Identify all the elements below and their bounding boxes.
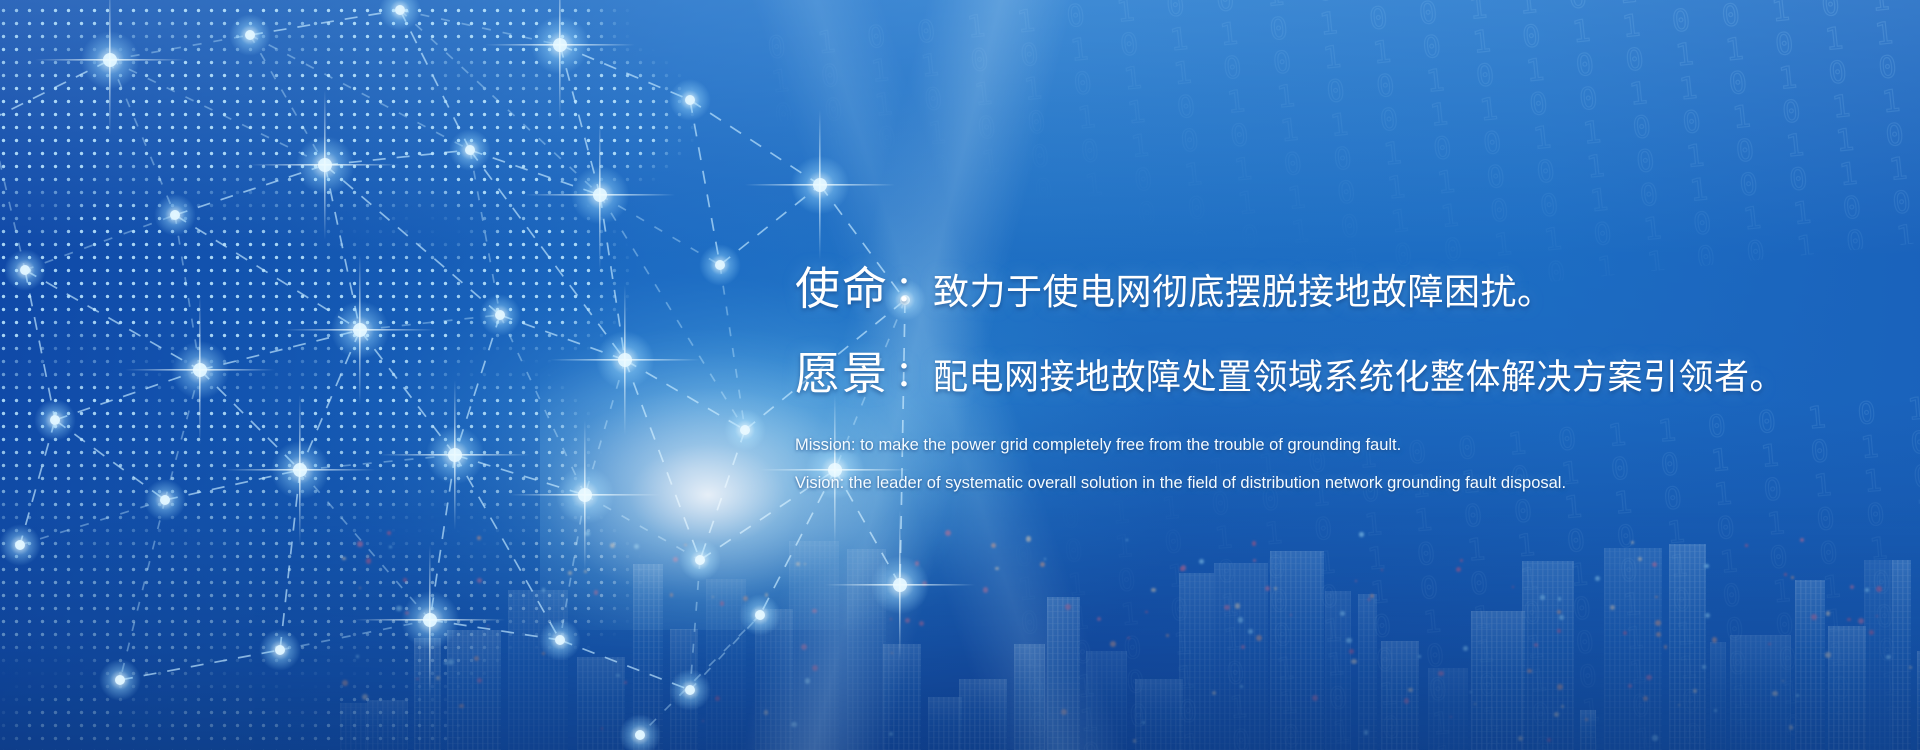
city-building [414, 638, 441, 750]
network-edge [110, 60, 325, 165]
city-light [715, 696, 720, 701]
city-light [1772, 691, 1777, 696]
banner-text-block: 使命：致力于使电网彻底摆脱接地故障困扰。 愿景：配电网接地故障处置领域系统化整体… [795, 252, 1875, 493]
city-light [1235, 603, 1241, 609]
city-light [1646, 675, 1651, 680]
network-edge [500, 315, 585, 495]
city-light [1061, 709, 1067, 715]
city-light [1408, 688, 1413, 693]
city-light [362, 694, 368, 700]
city-light [1110, 641, 1116, 647]
city-light [1065, 604, 1071, 610]
network-edge [455, 455, 560, 640]
network-node [578, 488, 592, 502]
hero-banner: 0 1 0 0 1 1 0 1 0 0 1 0 1 1 0 0 1 0 1 0 … [0, 0, 1920, 750]
binary-row: 0 1 0 0 1 1 0 1 0 0 1 0 1 1 0 0 1 0 1 0 … [1028, 626, 1920, 744]
network-edge [300, 470, 430, 620]
city-light [405, 611, 409, 615]
headline-mission-text: 致力于使电网彻底摆脱接地故障困扰。 [933, 271, 1554, 312]
city-light [919, 621, 924, 626]
network-node [160, 495, 170, 505]
city-light [1026, 536, 1032, 542]
city-light [1664, 645, 1668, 649]
globe-dot-matrix [0, 0, 830, 750]
city-light [1351, 659, 1357, 665]
city-light [1346, 638, 1351, 643]
city-light [542, 652, 544, 654]
network-node [740, 425, 750, 435]
city-light [995, 567, 998, 570]
network-edge [175, 215, 360, 330]
city-light [1557, 610, 1561, 614]
network-edge [600, 195, 720, 265]
network-edge [120, 650, 280, 680]
network-node [813, 178, 827, 192]
city-light [1702, 665, 1706, 669]
city-building [447, 630, 501, 750]
network-edge [585, 495, 700, 560]
city-building [1428, 668, 1468, 750]
city-light [416, 678, 419, 681]
network-edge [360, 315, 500, 330]
city-light [1368, 598, 1371, 601]
city-light [1826, 611, 1830, 615]
city-light [1656, 632, 1661, 637]
network-edge [430, 455, 455, 620]
city-building [1471, 611, 1525, 750]
city-light [1784, 573, 1787, 576]
network-edge [20, 500, 165, 545]
dotted-world-globe [0, 0, 830, 750]
city-building [706, 579, 746, 750]
city-building [340, 703, 367, 750]
network-edge [250, 35, 325, 165]
city-building [1325, 591, 1351, 750]
city-light [1558, 597, 1561, 600]
city-building [1358, 594, 1377, 750]
city-light [487, 625, 489, 627]
city-light [1450, 716, 1452, 718]
headline-mission-colon: ： [889, 268, 933, 309]
city-light [1252, 541, 1257, 546]
network-edge [0, 120, 25, 270]
network-edge [720, 265, 745, 430]
network-node [353, 323, 367, 337]
headline-vision: 愿景：配电网接地故障处置领域系统化整体解决方案引领者。 [795, 337, 1875, 402]
network-edge [470, 150, 625, 360]
network-edge [25, 215, 175, 270]
city-light [403, 578, 407, 582]
network-edge [325, 165, 360, 330]
network-edge [470, 150, 500, 315]
city-light [1714, 709, 1717, 712]
city-light [477, 678, 482, 683]
city-light [1858, 618, 1864, 624]
city-light [1418, 655, 1421, 658]
city-light [945, 530, 951, 536]
city-light [1547, 738, 1551, 742]
binary-row: 1 0 0 1 1 0 1 0 1 1 0 0 1 0 0 1 1 0 0 1 … [784, 78, 1920, 235]
network-edge [400, 10, 600, 195]
city-light [1876, 615, 1878, 617]
city-light [1557, 684, 1562, 689]
network-edge [110, 60, 175, 215]
headline-mission: 使命：致力于使电网彻底摆脱接地故障困扰。 [795, 252, 1875, 317]
city-building [1669, 544, 1706, 750]
city-building [1828, 626, 1866, 750]
city-light [1359, 532, 1363, 536]
headline-vision-colon: ： [889, 353, 933, 394]
city-light [1865, 588, 1869, 592]
network-edge [600, 195, 625, 360]
network-edge [280, 620, 430, 650]
city-light [1463, 646, 1468, 651]
city-light [1256, 635, 1262, 641]
city-light [1585, 718, 1588, 721]
network-edge [325, 150, 470, 165]
city-light [366, 558, 371, 563]
city-light [1470, 691, 1472, 693]
city-light [1265, 586, 1271, 592]
network-node [685, 95, 695, 105]
city-light [1850, 585, 1854, 589]
network-edge [165, 370, 200, 500]
binary-row: 0 0 1 0 1 1 0 1 1 0 0 1 1 0 1 0 1 1 0 0 … [773, 0, 1920, 134]
city-light [387, 531, 391, 535]
city-light [1534, 643, 1538, 647]
network-edge [0, 60, 110, 120]
city-light [1142, 721, 1145, 724]
city-light [1847, 618, 1850, 621]
network-edge [250, 10, 400, 35]
city-light [616, 674, 620, 678]
city-light [1438, 671, 1444, 677]
city-building [1864, 560, 1892, 750]
network-node [618, 353, 632, 367]
city-light [1705, 613, 1710, 618]
city-light [601, 727, 603, 729]
network-node [423, 613, 437, 627]
network-edge [560, 495, 585, 640]
network-edge [585, 360, 625, 495]
city-light [624, 681, 627, 684]
city-light [1789, 725, 1793, 729]
city-light [1460, 559, 1463, 562]
city-light [542, 588, 546, 592]
network-edge [625, 360, 700, 560]
city-light [1240, 685, 1243, 688]
network-edge [250, 35, 470, 150]
network-edge [25, 270, 200, 370]
headline-vision-text: 配电网接地故障处置领域系统化整体解决方案引领者。 [933, 358, 1785, 397]
city-building [1795, 580, 1825, 750]
city-light [673, 557, 678, 562]
network-edge [455, 455, 585, 495]
city-building [1214, 563, 1268, 750]
city-light [1133, 739, 1136, 742]
network-edge [400, 10, 470, 150]
network-node [593, 188, 607, 202]
city-light [1145, 611, 1147, 613]
city-light [1825, 652, 1831, 658]
network-edge [360, 330, 455, 455]
city-light [1796, 694, 1799, 697]
network-node [293, 463, 307, 477]
network-edge [560, 45, 690, 100]
city-light [356, 655, 359, 658]
binary-row: 1 1 0 1 0 0 1 1 0 1 1 0 0 1 0 1 0 0 1 1 … [1016, 490, 1920, 608]
binary-row: 0 1 1 0 1 0 0 1 0 0 1 1 0 1 1 0 0 1 1 0 … [780, 44, 1920, 201]
network-node [170, 210, 180, 220]
city-building [633, 564, 663, 750]
city-light [1655, 596, 1658, 599]
network-node [715, 260, 725, 270]
city-building [508, 590, 568, 750]
city-light [1527, 669, 1531, 673]
network-node [395, 5, 405, 15]
city-light [568, 571, 572, 575]
network-edge [690, 615, 760, 690]
binary-row: 0 1 0 0 1 1 0 1 0 0 1 0 1 1 0 0 1 0 1 0 … [766, 0, 1920, 66]
city-light [1554, 712, 1559, 717]
city-light [1791, 576, 1795, 580]
city-building [1580, 710, 1596, 750]
network-edge [20, 420, 55, 545]
city-light [1595, 576, 1600, 581]
city-light [1040, 562, 1045, 567]
city-light [1212, 691, 1216, 695]
network-edge [690, 560, 700, 690]
city-light [1610, 605, 1615, 610]
city-light [1518, 736, 1523, 741]
city-light [1623, 631, 1628, 636]
city-light [1404, 698, 1409, 703]
city-light [1180, 567, 1184, 571]
city-light [359, 587, 361, 589]
network-edge [300, 455, 455, 470]
city-light [991, 543, 996, 548]
city-light [805, 678, 811, 684]
city-light [765, 593, 769, 597]
network-node [755, 610, 765, 620]
city-light [1652, 735, 1657, 740]
network-edge [55, 370, 200, 420]
network-edge [430, 620, 560, 640]
city-light [1655, 620, 1661, 626]
city-light [459, 704, 463, 708]
city-light [1370, 594, 1375, 599]
city-building [1086, 651, 1127, 750]
network-edge [165, 470, 300, 500]
city-light [812, 665, 818, 671]
city-light [477, 578, 482, 583]
city-light [890, 618, 892, 620]
city-light [1044, 558, 1047, 561]
city-light [791, 722, 797, 728]
city-light [1181, 565, 1187, 571]
city-light [357, 541, 362, 546]
city-light [764, 710, 768, 714]
city-light [1224, 605, 1230, 611]
city-light [1364, 730, 1369, 735]
network-edge [625, 360, 745, 430]
network-edge [325, 165, 500, 315]
network-node [685, 685, 695, 695]
headline-vision-label: 愿景 [795, 348, 889, 399]
headline-mission-label: 使命 [795, 263, 889, 314]
city-light [584, 570, 587, 573]
binary-row: 1 0 0 1 1 0 1 0 1 1 0 0 1 0 0 1 1 0 0 1 … [1022, 558, 1920, 676]
network-node [318, 158, 332, 172]
city-light [712, 596, 714, 598]
network-edge [400, 10, 560, 45]
city-light [1274, 587, 1277, 590]
city-light [436, 676, 440, 680]
city-light [367, 555, 369, 557]
binary-row: 0 0 1 0 1 1 0 1 1 0 0 1 1 0 1 0 1 1 0 0 … [1034, 694, 1920, 750]
city-light [1253, 559, 1257, 563]
city-light [477, 536, 481, 540]
network-node [275, 645, 285, 655]
city-light [1561, 705, 1564, 708]
city-building [1710, 642, 1726, 750]
city-light [1166, 634, 1169, 637]
city-light [891, 652, 893, 654]
city-light [610, 543, 615, 548]
network-edge [690, 100, 820, 185]
city-building [1730, 635, 1791, 750]
subtitle-vision: Vision: the leader of systematic overall… [795, 474, 1875, 493]
city-light [1512, 586, 1514, 588]
city-building [883, 644, 921, 750]
subtitle-mission: Mission: to make the power grid complete… [795, 436, 1875, 455]
network-edge [25, 270, 55, 420]
city-light [1800, 538, 1804, 542]
network-edge [200, 330, 360, 370]
network-edge [700, 430, 745, 560]
city-light [684, 544, 686, 546]
city-light [594, 590, 598, 594]
network-edge [470, 150, 600, 195]
city-light [431, 569, 434, 572]
city-light [1340, 611, 1345, 616]
city-light [1909, 666, 1912, 669]
city-light [1704, 564, 1709, 569]
city-light [1768, 643, 1771, 646]
network-edge [600, 195, 745, 430]
network-node [553, 38, 567, 52]
network-edge [500, 315, 625, 360]
city-light [743, 596, 748, 601]
network-node [495, 310, 505, 320]
city-light [1811, 614, 1817, 620]
city-building [1014, 644, 1045, 750]
binary-row: 0 1 1 0 1 0 0 1 0 0 1 1 0 1 1 0 0 1 1 0 … [1019, 524, 1920, 642]
city-light [1474, 703, 1476, 705]
network-edge [55, 420, 165, 500]
city-light [1876, 586, 1882, 592]
city-light [1238, 617, 1244, 623]
city-light [1097, 617, 1101, 621]
city-building [1179, 573, 1214, 750]
network-edge [455, 315, 500, 455]
network-node [695, 555, 705, 565]
city-building [1270, 551, 1324, 750]
city-light [342, 557, 346, 561]
network-edge [120, 500, 165, 680]
city-building [789, 541, 839, 750]
city-building [928, 697, 962, 750]
network-node [245, 30, 255, 40]
city-light [1127, 637, 1130, 640]
city-light [905, 618, 911, 624]
city-light [1540, 595, 1545, 600]
city-light [983, 587, 989, 593]
city-light [1381, 569, 1383, 571]
city-light [801, 644, 807, 650]
network-node [50, 415, 60, 425]
network-edge [110, 35, 250, 60]
city-light [1886, 655, 1890, 659]
city-light [389, 546, 391, 548]
city-light [922, 581, 927, 586]
city-light [1349, 649, 1354, 654]
network-node [635, 730, 645, 740]
network-node [15, 540, 25, 550]
city-light [342, 680, 348, 686]
city-light [804, 563, 807, 566]
city-light [1199, 559, 1204, 564]
network-edge [300, 330, 360, 470]
network-edge [175, 215, 200, 370]
network-node [448, 448, 462, 462]
network-node [115, 675, 125, 685]
city-building [959, 679, 1007, 750]
city-light [1557, 629, 1561, 633]
city-building [1604, 548, 1662, 750]
city-light [634, 544, 639, 549]
city-light [1652, 562, 1657, 567]
city-light [448, 659, 454, 665]
city-light [1312, 695, 1318, 701]
city-light [1355, 580, 1357, 582]
binary-row: 0 1 0 1 0 1 1 0 0 1 1 0 1 1 0 0 1 0 1 0 … [787, 112, 1920, 269]
city-building [755, 609, 793, 750]
city-building [1047, 597, 1080, 750]
city-light [1631, 541, 1634, 544]
city-building [1522, 561, 1574, 750]
city-light [1628, 684, 1632, 688]
network-edge [280, 470, 300, 650]
network-edge [690, 100, 720, 265]
city-building [1381, 641, 1419, 750]
city-building [577, 657, 625, 750]
city-light [1290, 614, 1293, 617]
city-building [1135, 679, 1183, 750]
city-light [1643, 696, 1648, 701]
city-light [1678, 704, 1680, 706]
network-node [555, 635, 565, 645]
network-node [103, 53, 117, 67]
city-building [367, 700, 408, 750]
city-light [444, 661, 448, 665]
city-light [1693, 689, 1697, 693]
city-light [1151, 588, 1156, 593]
city-light [1456, 567, 1461, 572]
city-light [396, 606, 402, 612]
city-light [812, 609, 817, 614]
city-light [1559, 615, 1564, 620]
